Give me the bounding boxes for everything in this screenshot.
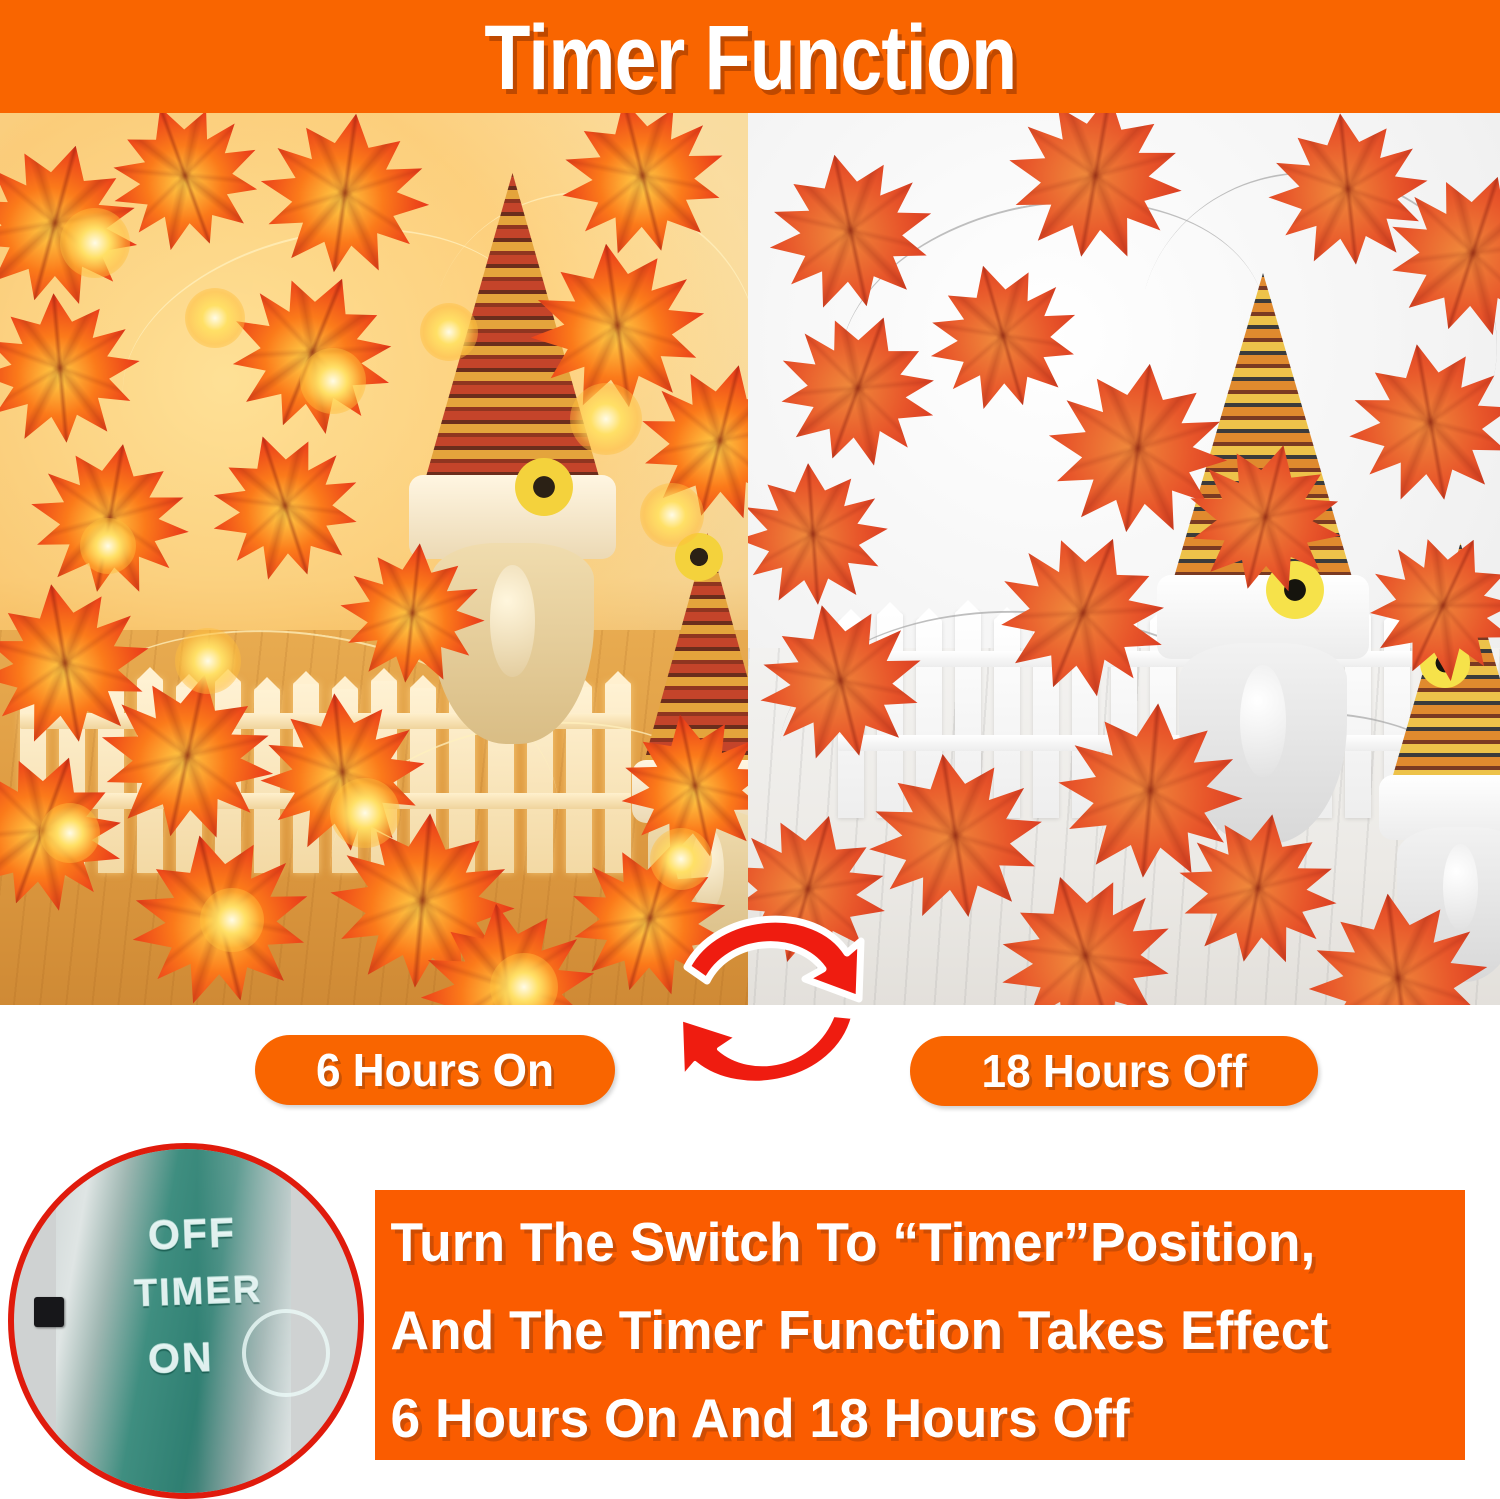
gnome-nose <box>490 565 534 677</box>
instruction-panel: Turn The Switch To “Timer”Position, And … <box>375 1190 1465 1460</box>
led-bulb <box>60 208 130 278</box>
battery-box: OFF TIMER ON <box>56 1143 291 1499</box>
led-bulb <box>570 383 642 455</box>
switch-label-timer: TIMER <box>133 1269 263 1316</box>
page-title: Timer Function <box>484 12 1016 104</box>
switch-label-off: OFF <box>147 1209 237 1259</box>
switch-detail-callout: OFF TIMER ON <box>8 1143 364 1499</box>
led-bulb <box>330 778 400 848</box>
led-bulb <box>300 348 366 414</box>
led-bulb <box>40 803 100 863</box>
gnome-nose <box>1443 844 1478 930</box>
instruction-line-2: And The Timer Function Takes Effect <box>375 1286 1432 1374</box>
switch-label-on: ON <box>147 1334 214 1383</box>
led-bulb <box>420 303 478 361</box>
badge-hours-off: 18 Hours Off <box>910 1036 1318 1106</box>
switch-slider-tab[interactable] <box>34 1297 64 1327</box>
instruction-line-3: 6 Hours On And 18 Hours Off <box>375 1374 1432 1462</box>
led-bulb <box>640 483 704 547</box>
photo-lights-on <box>0 113 748 1005</box>
header-banner: Timer Function <box>0 0 1500 113</box>
cycle-arrows-icon <box>655 895 885 1125</box>
led-bulb <box>175 628 241 694</box>
led-bulb <box>650 828 712 890</box>
badge-hours-off-label: 18 Hours Off <box>981 1048 1246 1094</box>
badge-hours-on-label: 6 Hours On <box>316 1047 554 1093</box>
led-bulb <box>200 888 264 952</box>
comparison-photo-strip <box>0 113 1500 1005</box>
switch-dial-ring <box>242 1309 330 1397</box>
sunflower-decoration <box>515 458 573 516</box>
led-bulb <box>80 518 136 574</box>
instruction-line-1: Turn The Switch To “Timer”Position, <box>375 1190 1432 1286</box>
led-bulb <box>185 288 245 348</box>
photo-lights-off <box>748 113 1500 1005</box>
badge-hours-on: 6 Hours On <box>255 1035 615 1105</box>
gnome-nose <box>1240 665 1286 777</box>
